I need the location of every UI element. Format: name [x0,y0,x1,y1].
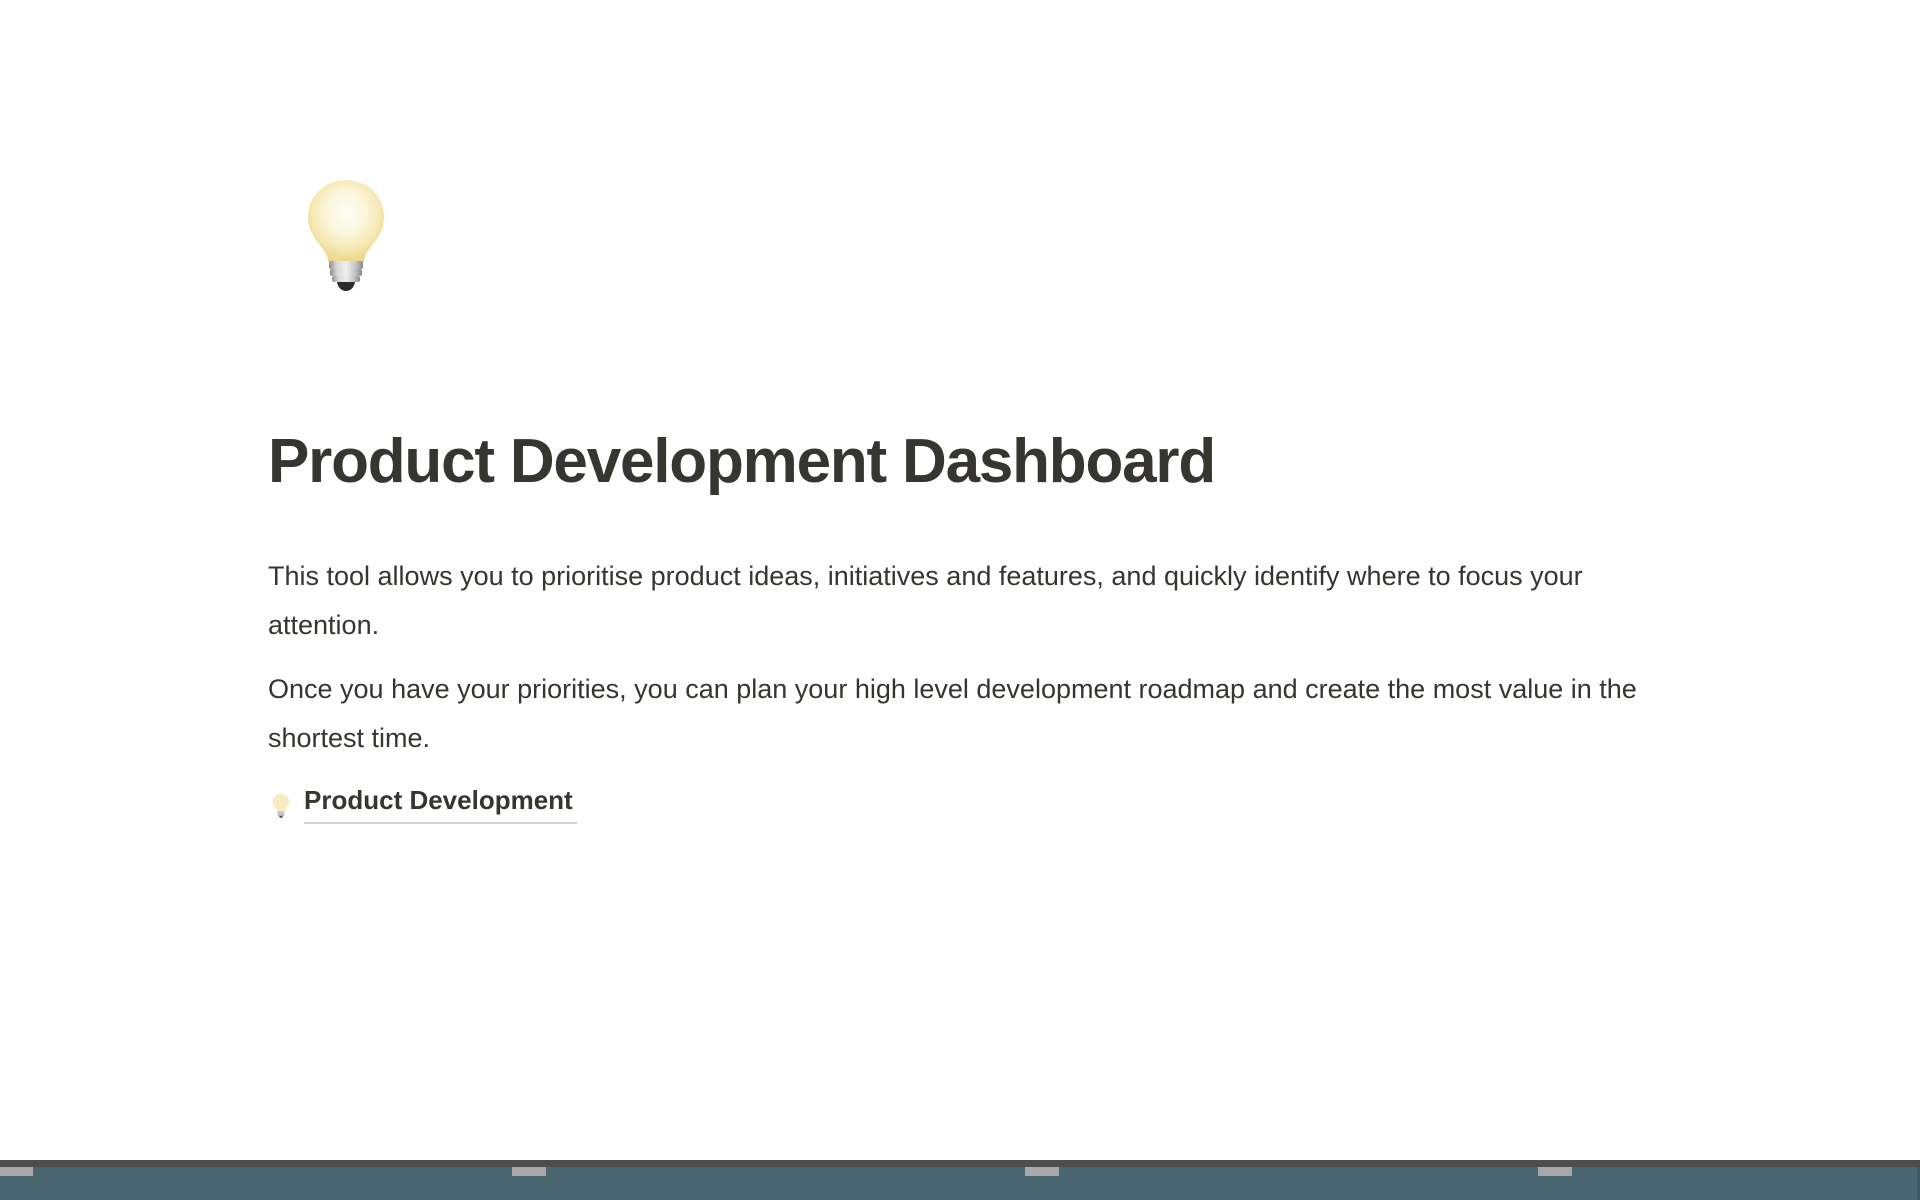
bottom-chrome-bar [0,1160,1920,1200]
lightbulb-icon-small [268,788,304,820]
paragraph-text: Once you have your priorities, you can p… [268,665,1692,763]
page-link-product-development[interactable]: Product Development [304,783,577,824]
page-title: Product Development Dashboard [268,427,1698,496]
chrome-tab-3[interactable] [1025,1167,1059,1176]
page-link-row[interactable]: Product Development [268,783,577,824]
chrome-tab-2[interactable] [512,1167,546,1176]
chrome-rail [0,1160,1920,1167]
lightbulb-icon[interactable] [286,172,406,292]
chrome-tab-4[interactable] [1538,1167,1572,1176]
paragraph-text: This tool allows you to prioritise produ… [268,552,1692,650]
paragraph-block-1: This tool allows you to prioritise produ… [268,552,1692,650]
paragraph-block-2: Once you have your priorities, you can p… [268,665,1692,763]
chrome-tab-1[interactable] [0,1167,33,1176]
document-page: Product Development Dashboard This tool … [0,0,1920,1160]
